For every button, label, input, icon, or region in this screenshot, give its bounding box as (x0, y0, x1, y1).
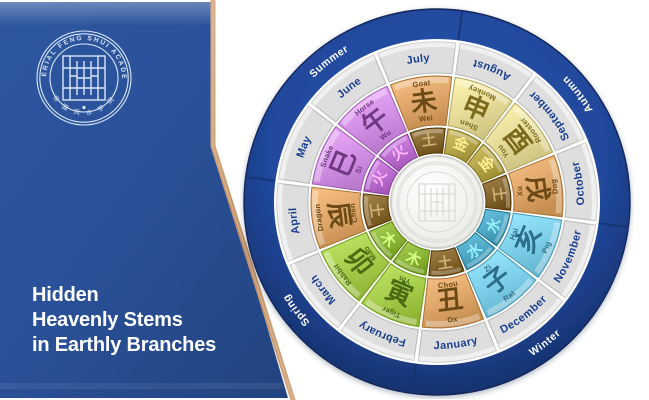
pinyin-label-xu: Xu (515, 185, 525, 196)
animal-label-ox: Ox (447, 314, 459, 324)
element-glyph-earth: 土 (420, 130, 437, 150)
wheel-diagram: SpringSummerAutumnWinterFebruary寅TigerYi… (240, 5, 634, 399)
logo-star-icon (82, 106, 85, 109)
svg-text:帝 国 风 水 学 院: 帝 国 风 水 学 院 (51, 93, 117, 117)
logo-icon: IMPERIAL FENG SHUI ACADEMY 帝 国 风 水 学 院 (34, 28, 134, 128)
element-glyph-earth: 土 (366, 201, 386, 218)
svg-text:IMPERIAL FENG SHUI ACADEMY: IMPERIAL FENG SHUI ACADEMY (34, 28, 127, 80)
poster-canvas: IMPERIAL FENG SHUI ACADEMY 帝 国 风 水 学 院 H… (0, 0, 649, 400)
headline-line-3: in Earthly Branches (32, 333, 272, 358)
element-glyph-earth: 土 (436, 253, 453, 273)
headline-line-2: Heavenly Stems (32, 308, 272, 333)
logo-ring-text-cn: 帝 国 风 水 学 院 (51, 93, 117, 117)
branch-glyph-xu: 戌 (520, 174, 553, 204)
logo-ring-text: IMPERIAL FENG SHUI ACADEMY (34, 28, 127, 80)
feng-shui-wheel: SpringSummerAutumnWinterFebruary寅TigerYi… (240, 5, 634, 399)
wheel-hub (390, 155, 484, 249)
hub-seal-icon (419, 184, 455, 221)
element-glyph-earth: 土 (489, 185, 509, 202)
page-title: Hidden Heavenly Stems in Earthly Branche… (32, 283, 272, 358)
headline-line-1: Hidden (32, 283, 272, 308)
